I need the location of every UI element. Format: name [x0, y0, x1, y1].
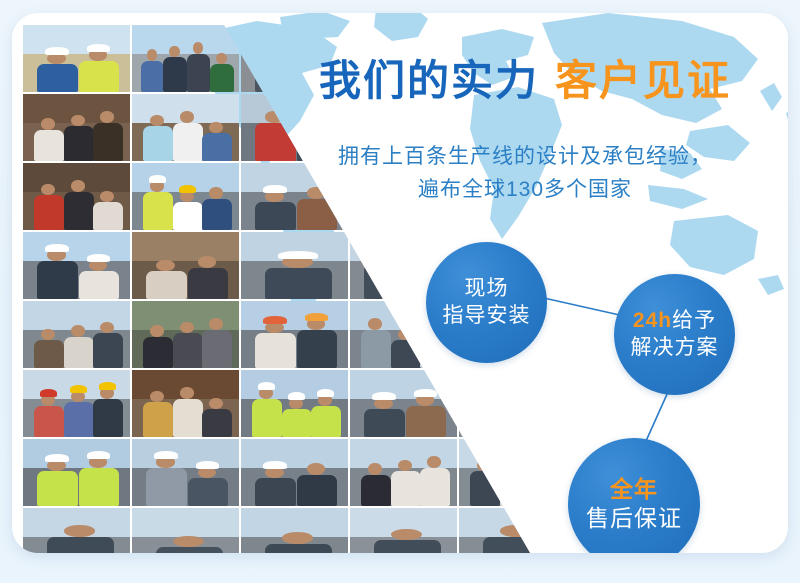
- page-title: 我们的实力客户见证: [275, 57, 775, 105]
- photo-figure: [173, 123, 203, 161]
- photo-figure: [265, 268, 332, 299]
- photo-figure-head: [282, 532, 313, 543]
- photo-tile: [241, 508, 348, 553]
- photo-figure: [37, 64, 78, 92]
- photo-figure-head: [391, 122, 422, 133]
- photo-figure-head: [64, 525, 95, 536]
- badge-full-year-warranty[interactable]: 全年 售后保证: [568, 438, 700, 553]
- photo-tile: [459, 439, 566, 506]
- photo-figure: [252, 399, 282, 437]
- photo-figure: [173, 202, 203, 230]
- photo-figure: [93, 399, 123, 437]
- headline-secondary: 客户见证: [555, 57, 731, 104]
- badge-2-accent: 24h: [633, 309, 672, 332]
- hard-hat: [317, 389, 334, 397]
- photo-figure-head: [169, 46, 180, 57]
- badge-2-line-1-rest: 给予: [672, 309, 716, 332]
- photo-backdrop: [350, 232, 457, 263]
- hard-hat: [87, 254, 111, 262]
- photo-figure: [163, 57, 187, 92]
- photo-tile: [350, 370, 457, 437]
- photo-tile: [132, 508, 239, 553]
- badge-1-line-2: 指导安装: [443, 303, 531, 330]
- badge-3-line-2: 售后保证: [586, 504, 682, 533]
- photo-tile: [132, 370, 239, 437]
- photo-backdrop: [241, 439, 348, 470]
- photo-figure-head: [41, 118, 55, 129]
- photo-figure-head: [416, 249, 434, 260]
- photo-figure: [361, 330, 391, 368]
- photo-figure-head: [500, 394, 531, 405]
- photo-figure-head: [507, 456, 521, 467]
- photo-tile: [241, 370, 348, 437]
- photo-figure: [297, 330, 338, 368]
- photo-figure-head: [209, 398, 223, 409]
- photo-figure: [374, 540, 441, 553]
- photo-figure: [391, 340, 421, 368]
- headline-primary: 我们的实力: [319, 57, 539, 104]
- photo-backdrop: [459, 439, 566, 470]
- photo-figure: [282, 409, 312, 437]
- hard-hat: [40, 389, 57, 397]
- photo-tile: [132, 439, 239, 506]
- photo-backdrop: [132, 508, 239, 539]
- photo-figure: [64, 402, 94, 437]
- photo-tile: [23, 94, 130, 161]
- photo-figure-head: [536, 467, 550, 478]
- photo-figure: [470, 471, 500, 506]
- subtitle-line-2: 遍布全球130多个国家: [275, 174, 775, 207]
- photo-backdrop: [350, 25, 457, 56]
- photo-figure: [500, 468, 530, 506]
- photo-tile: [23, 508, 130, 553]
- hard-hat: [45, 454, 69, 462]
- photo-figure: [188, 268, 229, 299]
- photo-figure-head: [156, 260, 174, 271]
- photo-figure-head: [100, 111, 114, 122]
- photo-figure-head: [209, 187, 223, 198]
- photo-backdrop: [459, 370, 566, 401]
- photo-figure: [34, 406, 64, 437]
- subtitle-line-1: 拥有上百条生产线的设计及承包经验，: [275, 141, 775, 174]
- photo-figure: [64, 192, 94, 230]
- photo-figure-head: [307, 463, 325, 474]
- badge-3-accent: 全年: [610, 475, 658, 504]
- photo-figure-head: [41, 329, 55, 340]
- photo-figure: [34, 130, 64, 161]
- photo-figure-head: [427, 456, 441, 467]
- photo-figure: [34, 195, 64, 230]
- hard-hat: [278, 251, 318, 259]
- photo-figure: [202, 409, 232, 437]
- photo-figure: [483, 406, 550, 437]
- photo-figure: [406, 406, 447, 437]
- photo-backdrop: [23, 439, 130, 470]
- photo-figure-head: [265, 111, 283, 122]
- photo-figure-head: [500, 525, 531, 536]
- hard-hat: [154, 451, 178, 459]
- photo-figure: [64, 337, 94, 368]
- photo-figure: [265, 544, 332, 553]
- photo-backdrop: [459, 25, 566, 56]
- photo-tile: [132, 94, 239, 161]
- photo-tile: [241, 232, 348, 299]
- badge-2-line-2: 解决方案: [631, 335, 719, 362]
- photo-figure: [79, 468, 120, 506]
- photo-figure-head: [307, 122, 325, 133]
- hard-hat: [263, 461, 287, 469]
- badge-on-site-installation[interactable]: 现场 指导安装: [426, 242, 547, 363]
- hard-hat: [45, 47, 69, 55]
- photo-figure-head: [216, 53, 227, 64]
- photo-figure: [143, 402, 173, 437]
- photo-figure: [93, 202, 123, 230]
- photo-tile: [241, 439, 348, 506]
- photo-tile: [23, 25, 130, 92]
- photo-figure: [188, 478, 229, 506]
- photo-tile: [23, 232, 130, 299]
- hard-hat: [45, 244, 69, 252]
- photo-figure-head: [209, 122, 223, 133]
- photo-figure: [79, 61, 120, 92]
- photo-figure-head: [374, 253, 392, 264]
- photo-figure: [529, 478, 559, 506]
- photo-figure: [255, 333, 296, 368]
- photo-figure: [37, 261, 78, 299]
- photo-tile: [23, 370, 130, 437]
- badge-24h-solution[interactable]: 24h给予 解决方案: [614, 274, 735, 395]
- badge-2-line-1: 24h给予: [633, 308, 716, 335]
- photo-figure-head: [391, 42, 422, 53]
- photo-figure: [187, 54, 211, 92]
- hard-hat: [196, 461, 220, 469]
- photo-figure: [64, 126, 94, 161]
- photo-figure: [143, 337, 173, 368]
- photo-figure-head: [100, 191, 114, 202]
- hard-hat: [87, 44, 111, 52]
- photo-figure: [146, 468, 187, 506]
- photo-backdrop: [132, 439, 239, 470]
- hard-hat: [149, 175, 166, 183]
- hard-hat: [179, 185, 196, 193]
- photo-figure-head: [193, 42, 204, 53]
- photo-figure: [361, 475, 391, 506]
- connector-line-2-3: [646, 392, 668, 441]
- photo-backdrop: [23, 232, 130, 263]
- photo-figure: [47, 537, 114, 553]
- photo-figure-head: [173, 536, 204, 547]
- photo-tile: [23, 163, 130, 230]
- photo-figure-head: [150, 325, 164, 336]
- hard-hat: [99, 382, 116, 390]
- photo-figure: [311, 406, 341, 437]
- hard-hat: [263, 316, 287, 324]
- photo-figure: [173, 399, 203, 437]
- photo-tile: [459, 508, 566, 553]
- photo-figure: [34, 340, 64, 368]
- photo-foreground: [459, 399, 566, 437]
- photo-figure-head: [71, 325, 85, 336]
- photo-figure: [202, 330, 232, 368]
- photo-figure: [93, 333, 123, 368]
- photo-tile: [350, 439, 457, 506]
- photo-figure-head: [198, 256, 216, 267]
- photo-tile: [132, 232, 239, 299]
- hard-hat: [258, 382, 275, 390]
- photo-tile: [23, 301, 130, 368]
- banner-card: 我们的实力客户见证 拥有上百条生产线的设计及承包经验， 遍布全球130多个国家 …: [12, 13, 788, 553]
- photo-figure: [143, 126, 173, 161]
- photo-backdrop: [241, 301, 348, 332]
- hard-hat: [305, 313, 329, 321]
- photo-figure: [173, 333, 203, 368]
- photo-figure: [297, 475, 338, 506]
- photo-figure-head: [209, 318, 223, 329]
- photo-figure-head: [265, 46, 283, 57]
- hard-hat: [70, 385, 87, 393]
- photo-figure: [202, 133, 232, 161]
- photo-figure: [143, 192, 173, 230]
- photo-figure-head: [500, 118, 531, 129]
- photo-figure: [255, 202, 296, 230]
- photo-figure: [364, 264, 405, 299]
- photo-figure: [93, 123, 123, 161]
- photo-backdrop: [350, 370, 457, 401]
- photo-figure: [156, 547, 223, 553]
- photo-figure: [391, 471, 421, 506]
- photo-tile: [350, 508, 457, 553]
- photo-tile: [132, 25, 239, 92]
- photo-figure: [37, 471, 78, 506]
- photo-figure: [420, 468, 450, 506]
- photo-tile: [132, 301, 239, 368]
- photo-figure-head: [398, 329, 412, 340]
- photo-tile: [132, 163, 239, 230]
- photo-tile: [241, 301, 348, 368]
- photo-figure: [79, 271, 120, 299]
- photo-figure: [146, 271, 187, 299]
- hard-hat: [414, 389, 438, 397]
- photo-figure: [210, 64, 234, 92]
- photo-tile: [459, 370, 566, 437]
- promotional-banner: 我们的实力客户见证 拥有上百条生产线的设计及承包经验， 遍布全球130多个国家 …: [0, 0, 800, 583]
- photo-figure-head: [307, 42, 325, 53]
- photo-backdrop: [241, 25, 348, 56]
- photo-figure: [364, 409, 405, 437]
- photo-figure: [483, 537, 550, 553]
- photo-backdrop: [132, 232, 239, 263]
- photo-figure-head: [368, 463, 382, 474]
- photo-figure: [141, 61, 165, 92]
- hard-hat: [288, 392, 305, 400]
- badge-1-line-1: 现场: [465, 276, 509, 303]
- photo-figure: [202, 199, 232, 230]
- photo-figure-head: [391, 529, 422, 540]
- photo-backdrop: [23, 25, 130, 56]
- photo-figure: [255, 478, 296, 506]
- connector-line-1-2: [535, 296, 624, 316]
- photo-figure-head: [147, 49, 158, 60]
- hard-hat: [87, 451, 111, 459]
- hard-hat: [372, 392, 396, 400]
- photo-tile: [23, 439, 130, 506]
- photo-figure-head: [477, 460, 491, 471]
- subtitle: 拥有上百条生产线的设计及承包经验， 遍布全球130多个国家: [275, 141, 775, 206]
